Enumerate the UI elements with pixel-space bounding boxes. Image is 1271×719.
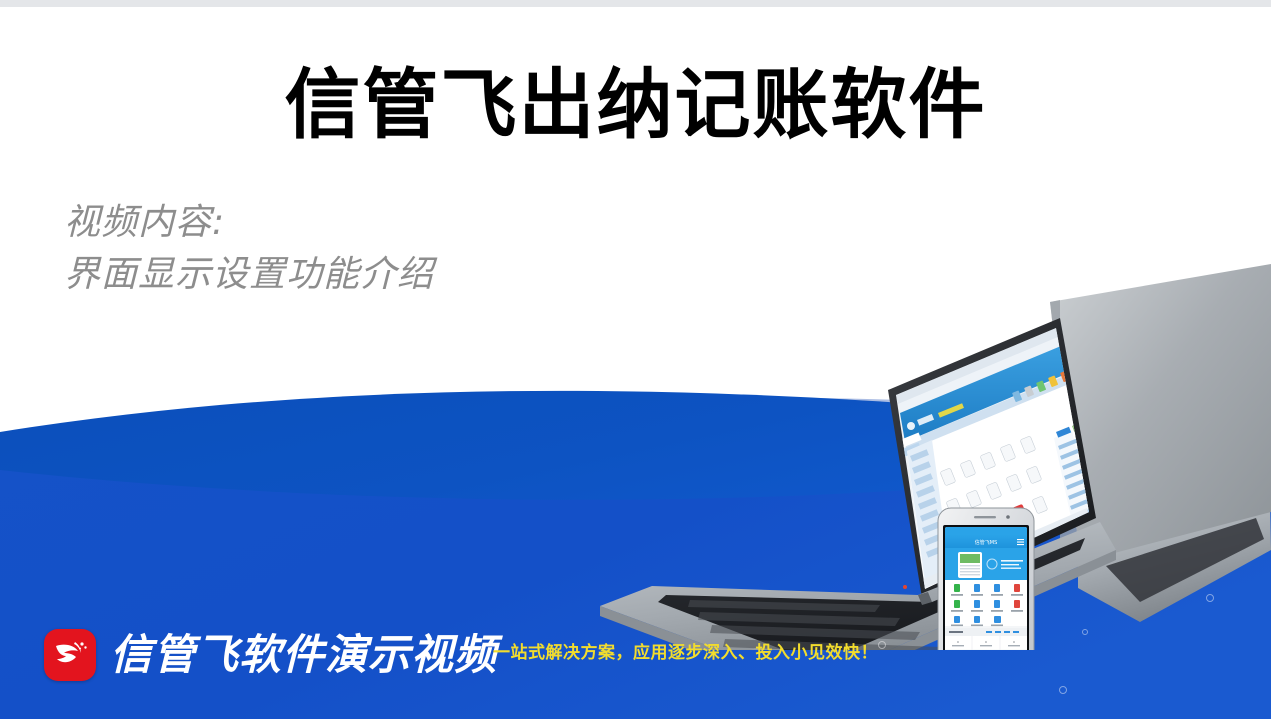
svg-text:信管飞MS: 信管飞MS	[975, 539, 998, 546]
devices-illustration: 信管飞MS	[580, 250, 1271, 650]
brand-logo-icon	[44, 629, 96, 681]
subtitle-content: 界面显示设置功能介绍	[64, 249, 434, 301]
phone-camera	[1006, 515, 1010, 519]
slide-root: 信管飞出纳记账软件 视频内容: 界面显示设置功能介绍	[0, 0, 1271, 719]
decorative-circle	[1206, 594, 1214, 602]
brand-row: 信管飞软件演示视频	[44, 629, 497, 681]
top-gray-bar	[0, 0, 1271, 7]
tagline: 一站式解决方案，应用逐步深入、投入小见效快！	[493, 642, 878, 664]
subtitle-label: 视频内容:	[64, 197, 434, 249]
footer-bar: 信管飞软件演示视频 一站式解决方案，应用逐步深入、投入小见效快！	[0, 609, 1271, 719]
laptop-front-led	[903, 585, 907, 589]
laptop-front	[600, 318, 1116, 650]
phone-speaker	[974, 516, 996, 518]
subtitle-block: 视频内容: 界面显示设置功能介绍	[64, 197, 434, 301]
brand-name: 信管飞软件演示视频	[110, 632, 497, 678]
page-title: 信管飞出纳记账软件	[0, 58, 1271, 152]
